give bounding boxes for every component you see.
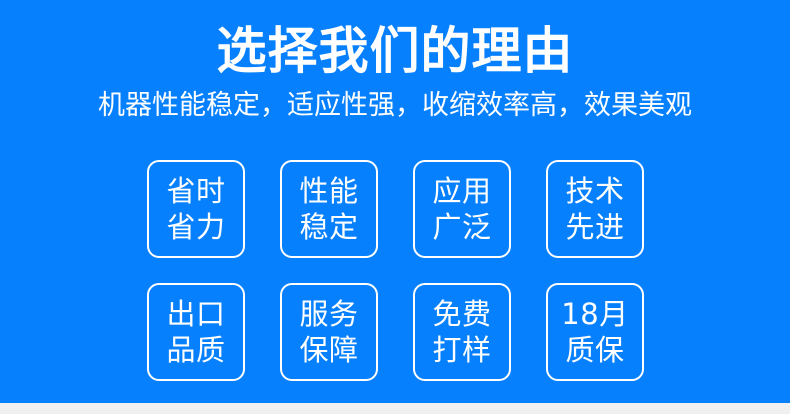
feature-box-2-line1: 性能	[299, 173, 358, 209]
feature-box-6: 服务 保障	[280, 283, 378, 381]
feature-box-6-line1: 服务	[299, 296, 358, 332]
feature-box-8-line2: 质保	[565, 332, 624, 368]
feature-box-6-line2: 保障	[299, 332, 358, 368]
feature-box-5: 出口 品质	[147, 283, 245, 381]
feature-box-2-line2: 稳定	[299, 209, 358, 245]
feature-box-4-line1: 技术	[565, 173, 624, 209]
feature-box-3: 应用 广泛	[413, 160, 511, 258]
feature-box-3-line1: 应用	[432, 173, 491, 209]
feature-grid: 省时 省力 性能 稳定 应用 广泛 技术 先进 出口 品质 服务 保障 免费 打…	[147, 160, 643, 381]
bottom-divider	[0, 403, 790, 414]
feature-box-7-line2: 打样	[432, 332, 491, 368]
feature-box-7-line1: 免费	[432, 296, 491, 332]
feature-box-2: 性能 稳定	[280, 160, 378, 258]
promo-banner: 选择我们的理由 机器性能稳定，适应性强，收缩效率高，效果美观 省时 省力 性能 …	[0, 0, 790, 403]
feature-box-1-line1: 省时	[166, 173, 225, 209]
feature-box-4-line2: 先进	[565, 209, 624, 245]
feature-box-5-line2: 品质	[166, 332, 225, 368]
feature-box-5-line1: 出口	[166, 296, 225, 332]
feature-box-8: 18月 质保	[546, 283, 644, 381]
feature-box-3-line2: 广泛	[432, 209, 491, 245]
feature-box-1-line2: 省力	[166, 209, 225, 245]
page-title: 选择我们的理由	[0, 22, 790, 80]
feature-box-1: 省时 省力	[147, 160, 245, 258]
feature-box-7: 免费 打样	[413, 283, 511, 381]
feature-box-4: 技术 先进	[546, 160, 644, 258]
feature-box-8-line1: 18月	[561, 296, 628, 332]
page-subtitle: 机器性能稳定，适应性强，收缩效率高，效果美观	[0, 89, 790, 123]
